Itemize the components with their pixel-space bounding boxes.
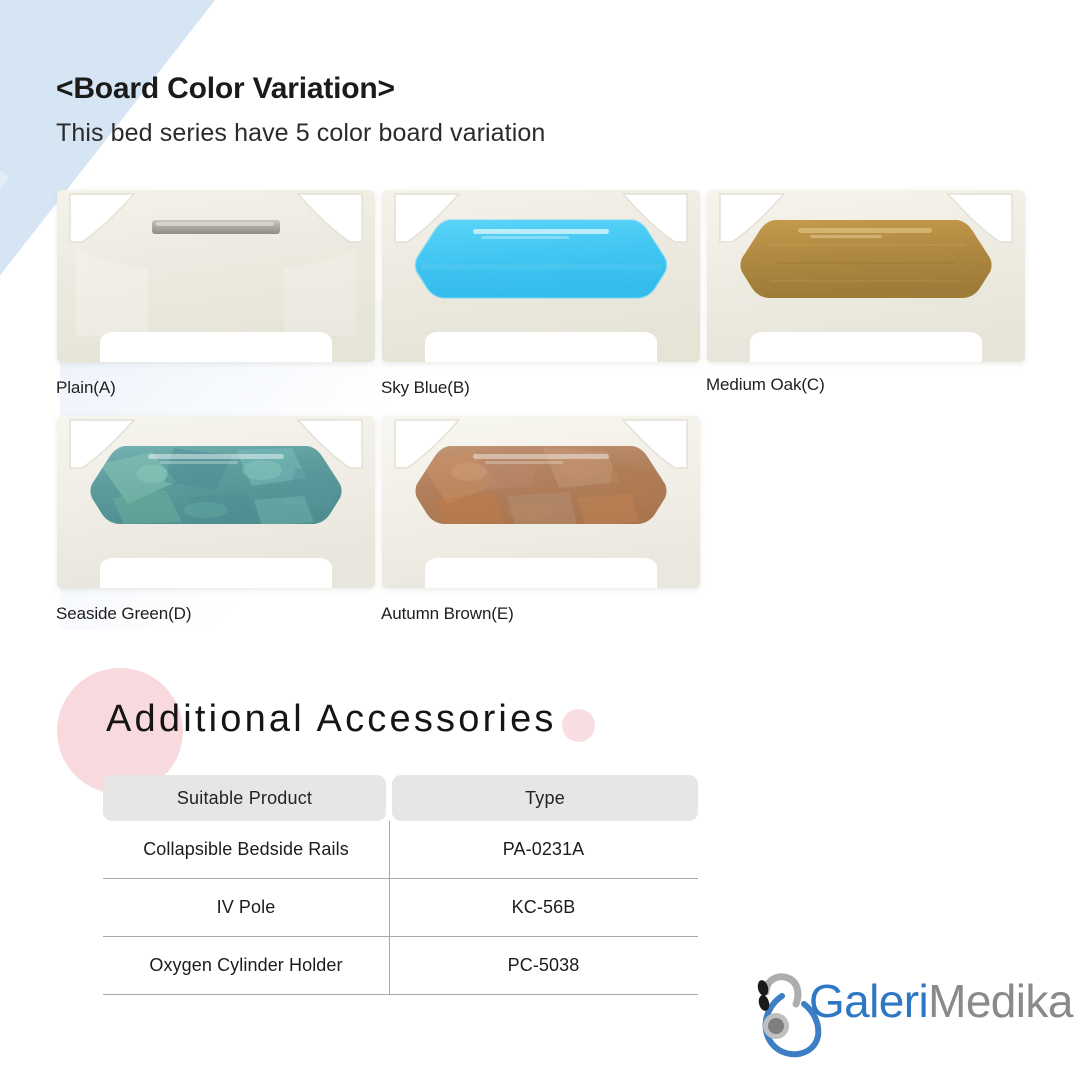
accessories-table: Suitable Product Type Collapsible Bedsid…	[103, 775, 698, 995]
headboard-sky-blue-icon	[381, 186, 701, 366]
accessories-title: Additional Accessories	[106, 700, 557, 738]
board-figure-seaside-green	[56, 412, 376, 592]
cell-type: PC-5038	[389, 955, 698, 976]
table-row: Oxygen Cylinder Holder PC-5038	[103, 937, 698, 994]
board-card-autumn-brown[interactable]: Autumn Brown(E)	[381, 412, 701, 592]
board-figure-autumn-brown	[381, 412, 701, 592]
board-caption-plain: Plain(A)	[56, 378, 116, 398]
cell-product: Collapsible Bedside Rails	[103, 839, 389, 860]
headboard-seaside-green-icon	[56, 412, 376, 592]
board-caption-medium-oak: Medium Oak(C)	[706, 375, 825, 395]
headboard-plain-icon	[56, 186, 376, 366]
brand-logo: GaleriMedika	[752, 968, 1052, 1073]
table-row: IV Pole KC-56B	[103, 879, 698, 936]
cell-product: Oxygen Cylinder Holder	[103, 955, 389, 976]
table-header-suitable-product: Suitable Product	[103, 775, 386, 821]
board-caption-sky-blue: Sky Blue(B)	[381, 378, 470, 398]
board-row-1: Plain(A)	[56, 186, 1046, 408]
table-header-row: Suitable Product Type	[103, 775, 698, 821]
table-row: Collapsible Bedside Rails PA-0231A	[103, 821, 698, 878]
logo-text-medika: Medika	[928, 975, 1073, 1027]
headboard-autumn-brown-icon	[381, 412, 701, 592]
board-row-2: Seaside Green(D)	[56, 412, 1046, 634]
decor-pink-circle-small	[562, 709, 595, 742]
headboard-medium-oak-icon	[706, 186, 1026, 366]
logo-wordmark: GaleriMedika	[809, 978, 1073, 1024]
header-block: <Board Color Variation> This bed series …	[56, 74, 545, 146]
table-body: Collapsible Bedside Rails PA-0231A IV Po…	[103, 821, 698, 995]
page-title: <Board Color Variation>	[56, 74, 545, 104]
board-figure-medium-oak	[706, 186, 1026, 366]
board-card-medium-oak[interactable]: Medium Oak(C)	[706, 186, 1026, 366]
board-card-sky-blue[interactable]: Sky Blue(B)	[381, 186, 701, 366]
board-variation-grid: Plain(A)	[56, 186, 1046, 634]
board-card-seaside-green[interactable]: Seaside Green(D)	[56, 412, 376, 592]
board-card-plain[interactable]: Plain(A)	[56, 186, 376, 366]
table-header-type: Type	[392, 775, 698, 821]
cell-product: IV Pole	[103, 897, 389, 918]
board-figure-plain	[56, 186, 376, 366]
table-row-separator	[103, 994, 698, 995]
logo-text-galeri: Galeri	[809, 975, 928, 1027]
board-caption-autumn-brown: Autumn Brown(E)	[381, 604, 514, 624]
board-caption-seaside-green: Seaside Green(D)	[56, 604, 191, 624]
cell-type: KC-56B	[389, 897, 698, 918]
poster-canvas: <Board Color Variation> This bed series …	[0, 0, 1080, 1080]
page-subtitle: This bed series have 5 color board varia…	[56, 121, 545, 146]
cell-type: PA-0231A	[389, 839, 698, 860]
board-figure-sky-blue	[381, 186, 701, 366]
table-column-divider	[389, 821, 390, 995]
